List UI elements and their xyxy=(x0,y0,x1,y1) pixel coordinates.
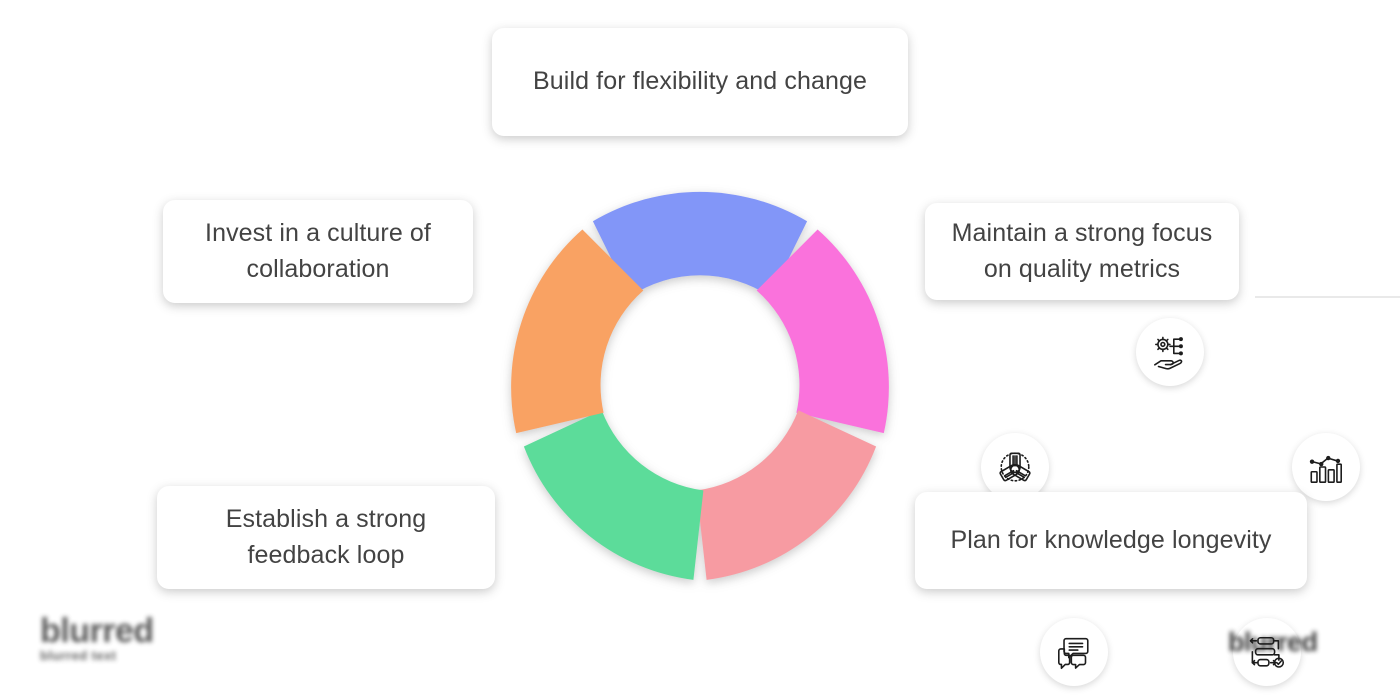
icon-badge-collaboration[interactable] xyxy=(981,433,1049,501)
label-card-feedback-loop[interactable]: Establish a strong feedback loop xyxy=(157,486,495,589)
watermark-left-sub: blurred text xyxy=(40,649,154,663)
ring-segment-knowledge-longevity[interactable] xyxy=(697,410,877,580)
bar-chart-trend-icon xyxy=(1307,448,1345,486)
ring-segment-feedback-loop[interactable] xyxy=(524,410,704,580)
label-card-feedback-loop-text: Establish a strong feedback loop xyxy=(226,502,427,573)
icon-badge-feedback-loop[interactable] xyxy=(1040,618,1108,686)
watermark-right: blurred xyxy=(1228,628,1318,656)
label-card-collaboration-text: Invest in a culture of collaboration xyxy=(205,216,431,287)
watermark-left: blurred blurred text xyxy=(40,614,154,664)
joined-hands-icon xyxy=(996,448,1034,486)
label-card-quality-metrics-text: Maintain a strong focus on quality metri… xyxy=(952,216,1213,287)
hand-gear-network-icon xyxy=(1151,333,1189,371)
edge-artifact xyxy=(1255,296,1400,298)
label-card-flexibility[interactable]: Build for flexibility and change xyxy=(492,28,908,136)
label-card-collaboration[interactable]: Invest in a culture of collaboration xyxy=(163,200,473,303)
chat-bubbles-icon xyxy=(1055,633,1093,671)
label-card-knowledge-longevity[interactable]: Plan for knowledge longevity xyxy=(915,492,1307,589)
watermark-right-main: blurred xyxy=(1228,628,1318,656)
icon-badge-quality-metrics[interactable] xyxy=(1292,433,1360,501)
watermark-left-main: blurred xyxy=(40,614,154,649)
label-card-flexibility-text: Build for flexibility and change xyxy=(533,64,867,100)
icon-badge-flexibility[interactable] xyxy=(1136,318,1204,386)
label-card-quality-metrics[interactable]: Maintain a strong focus on quality metri… xyxy=(925,203,1239,300)
label-card-knowledge-longevity-text: Plan for knowledge longevity xyxy=(950,523,1271,559)
ring-svg xyxy=(470,140,930,600)
segmented-ring xyxy=(470,140,930,600)
diagram-canvas: Build for flexibility and change Maintai… xyxy=(0,0,1400,700)
